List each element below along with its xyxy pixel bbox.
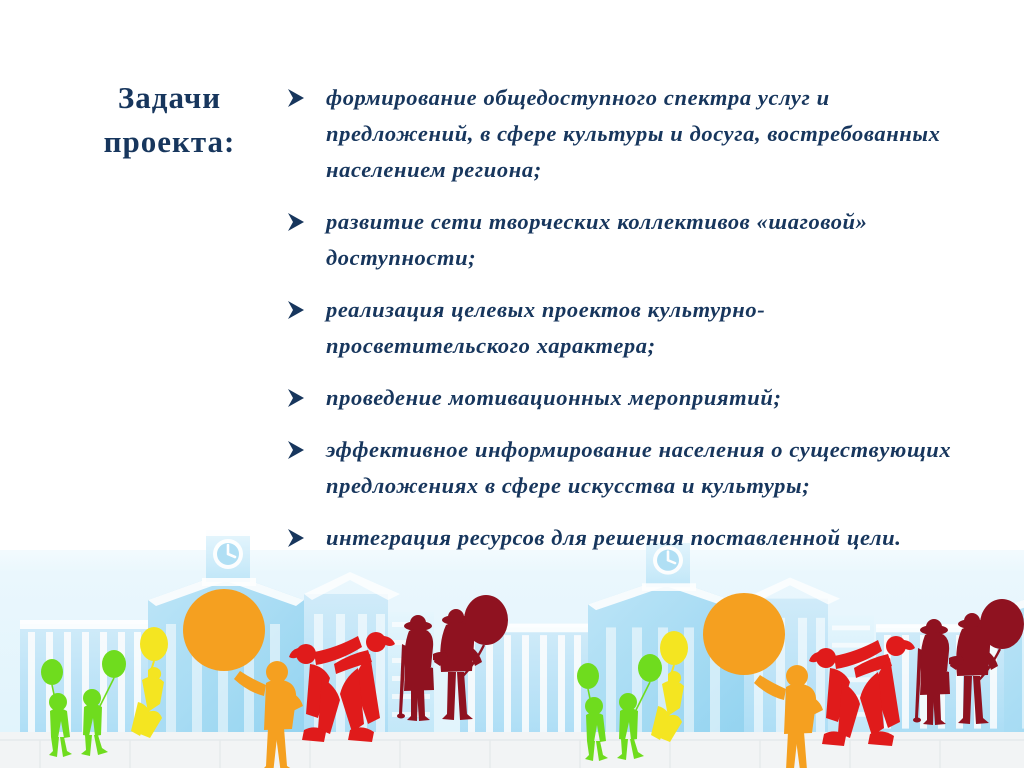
- task-list: формирование общедоступного спектра услу…: [283, 80, 963, 556]
- page-title-line-2: проекта:: [62, 120, 277, 164]
- list-item-label: формирование общедоступного спектра услу…: [326, 80, 963, 188]
- arrowhead-bullet-icon: [285, 439, 307, 461]
- list-item: эффективное информирование населения о с…: [283, 432, 963, 504]
- page-title-line-1: Задачи: [62, 76, 277, 120]
- arrowhead-bullet-icon: [285, 527, 307, 549]
- list-item: реализация целевых проектов культурно-пр…: [283, 292, 963, 364]
- list-item-label: эффективное информирование населения о с…: [326, 432, 963, 504]
- page-title: Задачи проекта:: [62, 76, 277, 164]
- list-item: интеграция ресурсов для решения поставле…: [283, 520, 963, 556]
- slide-canvas: Задачи проекта: формирование общедоступн…: [0, 0, 1024, 768]
- list-item-label: реализация целевых проектов культурно-пр…: [326, 292, 963, 364]
- list-item: формирование общедоступного спектра услу…: [283, 80, 963, 188]
- list-item-label: развитие сети творческих коллективов «ша…: [326, 204, 963, 276]
- list-item: проведение мотивационных мероприятий;: [283, 380, 963, 416]
- list-item-label: интеграция ресурсов для решения поставле…: [326, 520, 963, 556]
- arrowhead-bullet-icon: [285, 299, 307, 321]
- arrowhead-bullet-icon: [285, 87, 307, 109]
- arrowhead-bullet-icon: [285, 387, 307, 409]
- list-item-label: проведение мотивационных мероприятий;: [326, 380, 963, 416]
- arrowhead-bullet-icon: [285, 211, 307, 233]
- slide-content: Задачи проекта: формирование общедоступн…: [0, 0, 1024, 768]
- list-item: развитие сети творческих коллективов «ша…: [283, 204, 963, 276]
